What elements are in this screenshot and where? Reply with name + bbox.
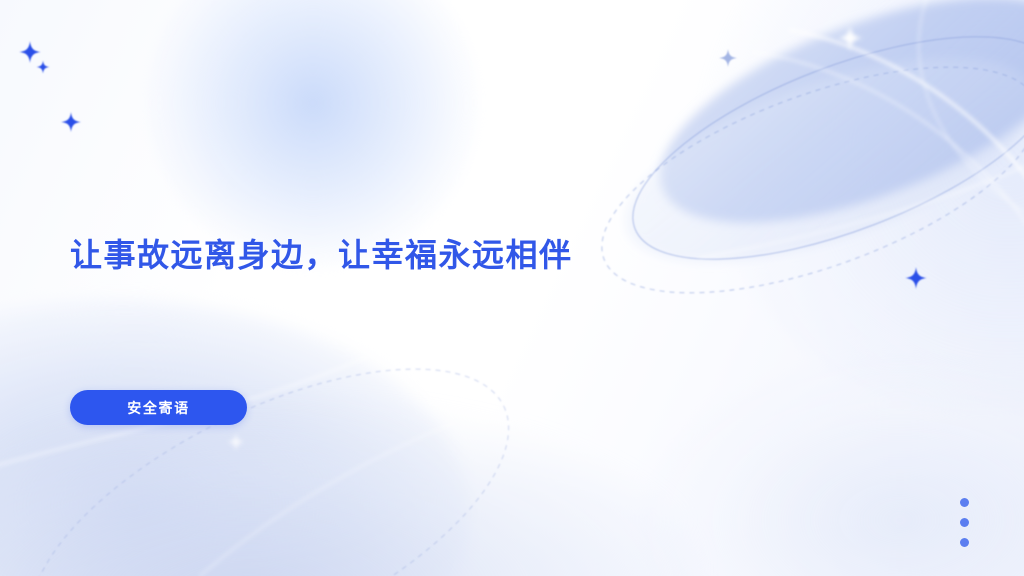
- safety-message-button[interactable]: 安全寄语: [70, 390, 247, 425]
- background-gradient: [0, 0, 1024, 576]
- slide-root: 让事故远离身边，让幸福永远相伴 安全寄语: [0, 0, 1024, 576]
- more-options-menu[interactable]: [956, 498, 972, 547]
- page-title: 让事故远离身边，让幸福永远相伴: [70, 236, 573, 274]
- more-options-dot-3: [960, 538, 969, 547]
- more-options-dot-1: [960, 498, 969, 507]
- more-options-dot-2: [960, 518, 969, 527]
